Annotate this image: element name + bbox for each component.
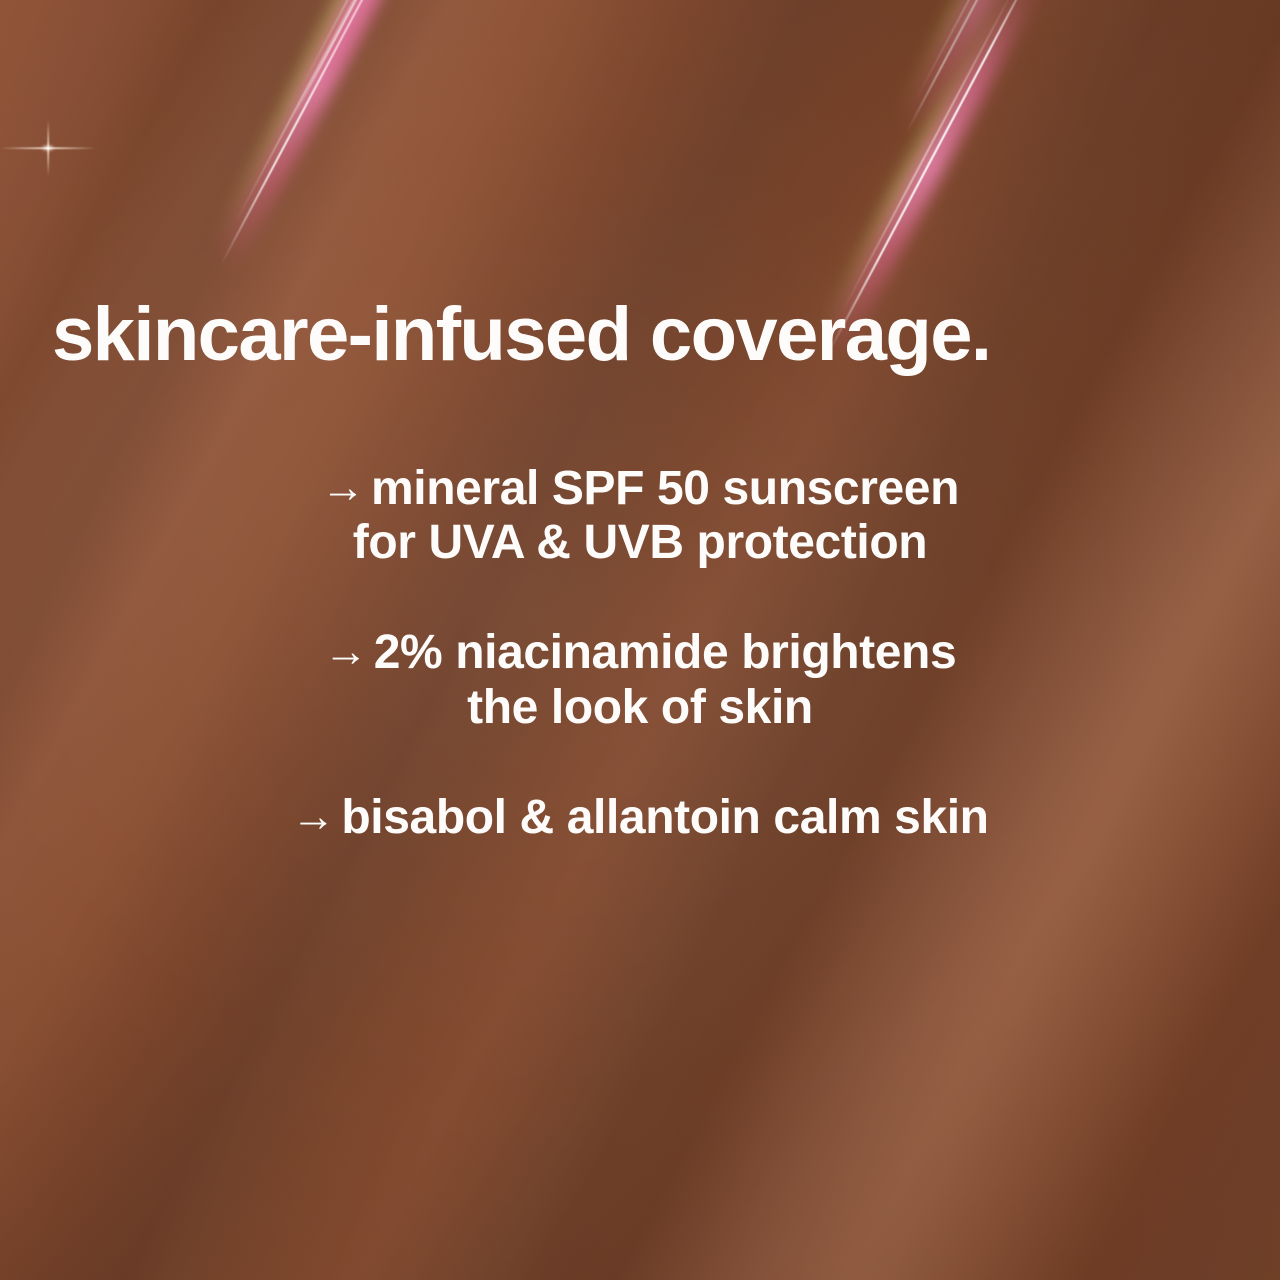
benefit-line: →mineral SPF 50 sunscreen <box>0 462 1280 516</box>
list-item: →mineral SPF 50 sunscreen for UVA & UVB … <box>0 462 1280 570</box>
list-item: →2% niacinamide brightens the look of sk… <box>0 626 1280 734</box>
arrow-right-icon: → <box>321 463 365 512</box>
arrow-right-icon: → <box>324 627 368 676</box>
benefit-line: the look of skin <box>0 681 1280 735</box>
benefit-line: →2% niacinamide brightens <box>0 626 1280 680</box>
benefit-text: mineral SPF 50 sunscreen <box>371 462 959 515</box>
page-title: skincare-infused coverage. <box>52 297 990 373</box>
list-item: →bisabol & allantoin calm skin <box>0 791 1280 845</box>
benefit-text: 2% niacinamide brightens <box>374 626 957 679</box>
benefit-list: →mineral SPF 50 sunscreen for UVA & UVB … <box>0 462 1280 845</box>
arrow-right-icon: → <box>291 792 335 841</box>
marketing-graphic-canvas: skincare-infused coverage. →mineral SPF … <box>0 0 1280 1280</box>
benefit-text: bisabol & allantoin calm skin <box>341 791 988 844</box>
text-layer: skincare-infused coverage. →mineral SPF … <box>0 0 1280 1280</box>
benefit-line: →bisabol & allantoin calm skin <box>0 791 1280 845</box>
benefit-line: for UVA & UVB protection <box>0 516 1280 570</box>
